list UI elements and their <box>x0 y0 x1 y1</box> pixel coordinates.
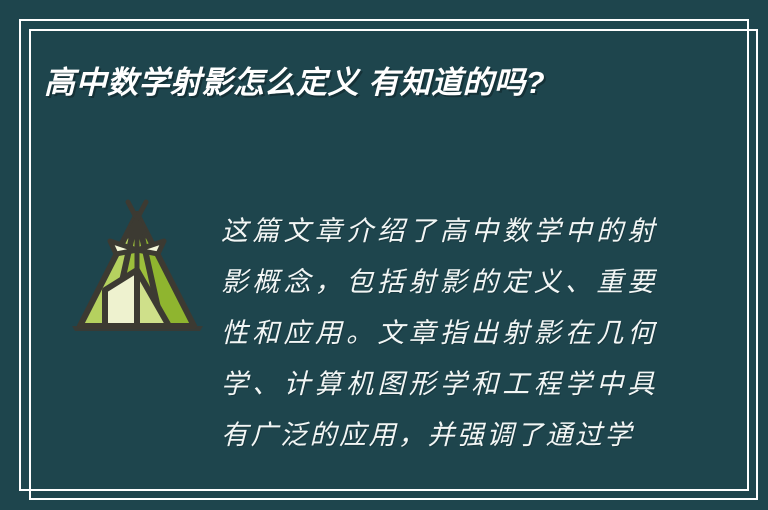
poster-canvas: 高中数学射影怎么定义 有知道的吗? 这篇文章介绍了高中数学中的射影概念，包括射影… <box>0 0 768 510</box>
teepee-tent-illustration <box>60 192 215 347</box>
article-summary-text: 这篇文章介绍了高中数学中的射影概念，包括射影的定义、重要性和应用。文章指出射影在… <box>221 206 657 464</box>
page-title: 高中数学射影怎么定义 有知道的吗? <box>44 58 704 108</box>
teepee-tent-icon <box>60 192 215 347</box>
